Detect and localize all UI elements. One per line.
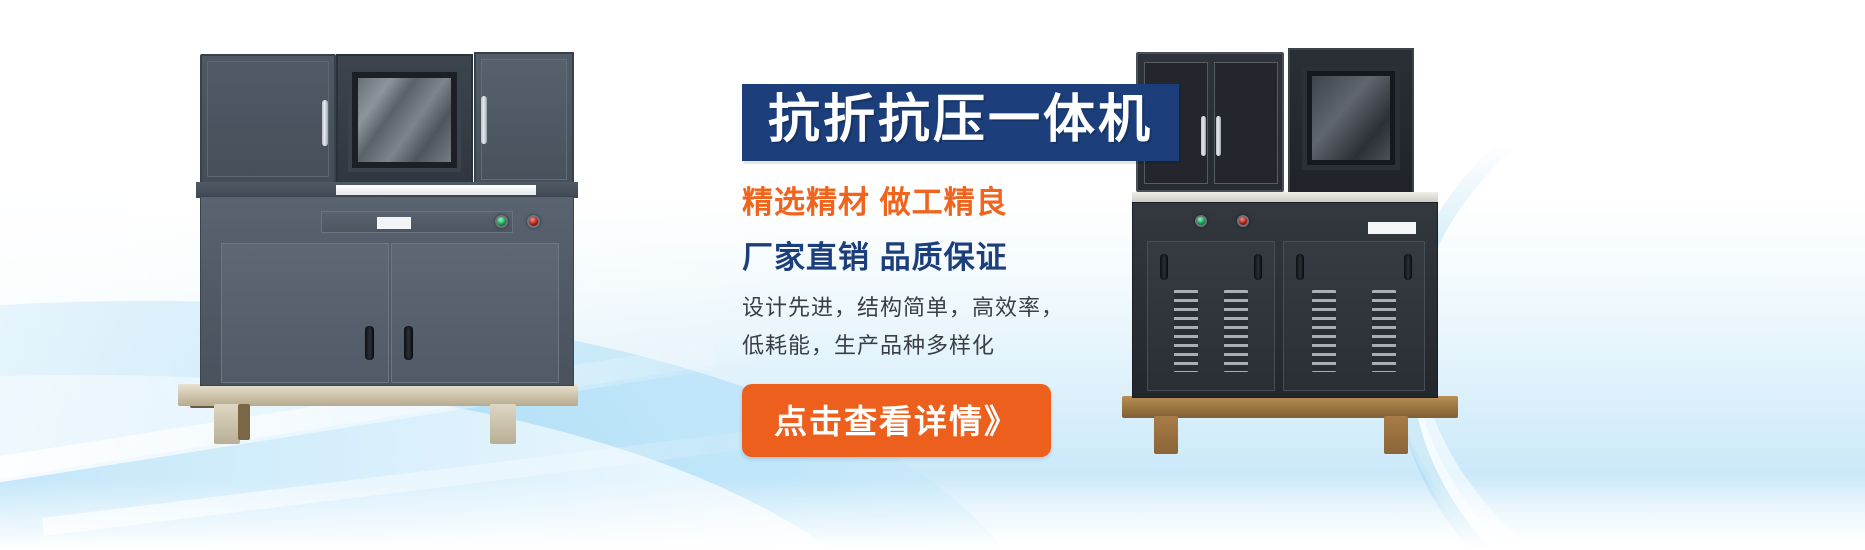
drawer-label-left (377, 217, 411, 229)
cabinet-handle-icon (481, 96, 487, 144)
lower-door-right (391, 243, 559, 383)
machine-nameplate-right (1368, 222, 1416, 234)
power-lamp-green-icon (495, 215, 508, 228)
view-details-button[interactable]: 点击查看详情》 (742, 384, 1051, 457)
lower-cabinet-left (200, 196, 574, 386)
power-lamp-red-icon (527, 215, 540, 228)
description-line-1: 设计先进，结构简单，高效率， (742, 289, 1302, 328)
monitor-screen-left (358, 78, 451, 162)
description-line-2: 低耗能，生产品种多样化 (742, 327, 1302, 366)
background-fade-bottom (0, 480, 1865, 550)
vent-louver (1372, 290, 1396, 372)
subtitle-blue: 厂家直销 品质保证 (742, 232, 1302, 277)
monitor-enclosure-left (336, 54, 473, 194)
monitor-bezel-left (348, 68, 461, 172)
pallet-leg-right-b (1384, 416, 1408, 454)
pallet-leg-left-b (490, 404, 516, 444)
product-photo-left (168, 46, 588, 446)
upper-cabinet-right (474, 52, 574, 187)
door-handle-icon (1404, 254, 1412, 280)
product-banner: 抗折抗压一体机 精选精材 做工精良 厂家直销 品质保证 设计先进，结构简单，高效… (0, 0, 1865, 550)
perforated-door-right (481, 59, 567, 180)
vented-door-b (1283, 241, 1425, 391)
perforated-door-left (207, 61, 329, 177)
deck-white-strip-left (336, 185, 536, 195)
monitor-enclosure-right (1288, 48, 1414, 198)
pallet-board-left (178, 384, 578, 406)
lower-door-left (221, 243, 389, 383)
monitor-bezel-right (1302, 66, 1400, 170)
cabinet-handle-icon (322, 100, 328, 146)
control-drawer-left (321, 211, 513, 233)
pallet-leg-left-a (214, 404, 240, 444)
door-handle-icon (404, 326, 413, 360)
monitor-screen-right (1312, 76, 1390, 160)
subtitle-orange: 精选精材 做工精良 (742, 177, 1302, 222)
pallet-leg-shadow-left (238, 404, 250, 440)
marketing-copy: 抗折抗压一体机 精选精材 做工精良 厂家直销 品质保证 设计先进，结构简单，高效… (742, 84, 1302, 457)
door-handle-icon (365, 326, 374, 360)
title-banner: 抗折抗压一体机 (742, 84, 1179, 161)
upper-cabinet-left (200, 54, 336, 184)
vent-louver (1312, 290, 1336, 372)
page-title: 抗折抗压一体机 (768, 93, 1153, 148)
